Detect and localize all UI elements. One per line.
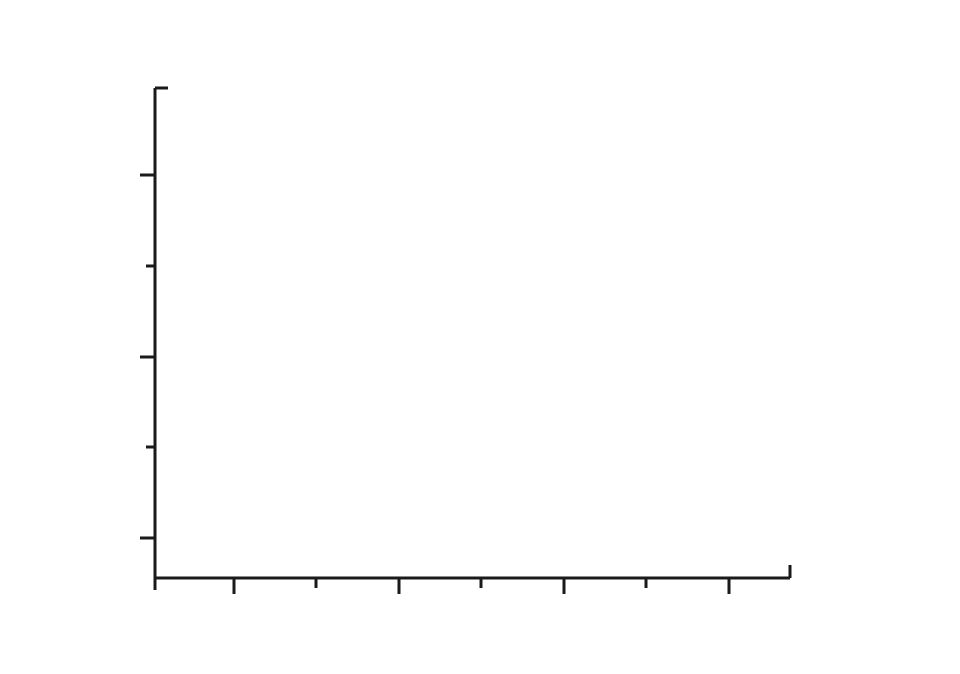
y-axis-ticks xyxy=(140,175,155,538)
x-axis-ticks xyxy=(234,578,729,594)
axes xyxy=(155,88,790,590)
plot-area xyxy=(0,0,960,674)
elisa-chart-figure xyxy=(0,0,960,674)
